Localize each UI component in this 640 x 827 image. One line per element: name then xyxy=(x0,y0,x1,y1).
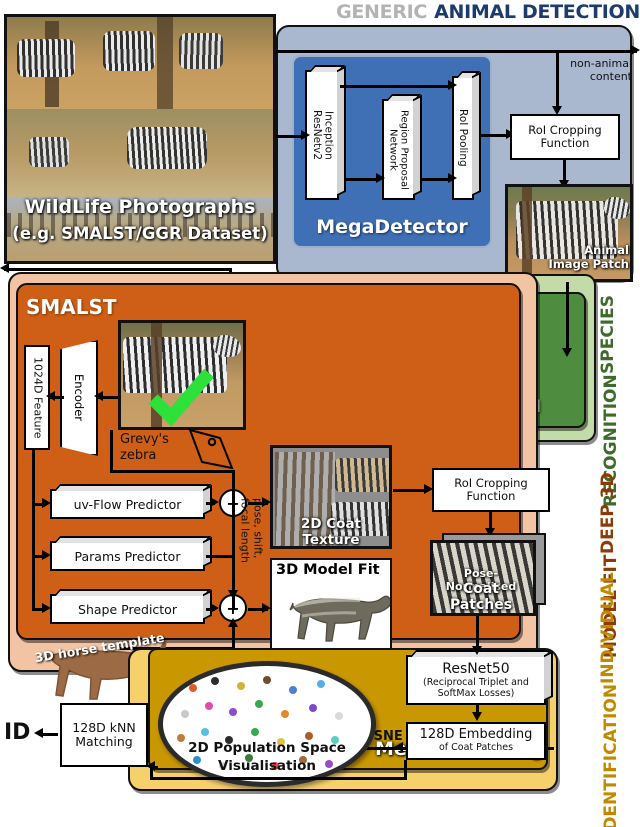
encoder-block: Encoder xyxy=(60,340,98,456)
coat-patches-line2: Coat Patches xyxy=(430,581,532,613)
rail-top-feedback xyxy=(270,50,637,53)
roi-crop-det-line2: Function xyxy=(541,137,590,150)
roi-cropping-function-fit: RoI Cropping Function xyxy=(432,468,550,512)
arrowhead-patches-to-resnet xyxy=(472,646,482,655)
knn-line2: Matching xyxy=(75,735,132,749)
side-3d-line1: DEEP 3D xyxy=(600,472,620,554)
non-animal-line2: content xyxy=(536,70,632,83)
arrowhead-bus-to-shape xyxy=(42,603,51,613)
model-fit-label: 3D Model Fit xyxy=(276,562,380,578)
non-animal-content-label: non-animal content xyxy=(536,57,632,83)
population-line2: Visualisation xyxy=(160,758,374,774)
arrowhead-template-up xyxy=(228,618,238,627)
animal-image-patch-caption: Animal Image Patch xyxy=(505,243,629,272)
figure-headline: GENERIC ANIMAL DETECTION xyxy=(260,0,640,24)
arrowhead-resnet-to-embedding xyxy=(472,712,482,721)
arrowhead-knn-to-id xyxy=(34,728,43,738)
wildlife-photographs-subtitle: (e.g. SMALST/GGR Dataset) xyxy=(4,224,276,243)
uv-flow-predictor-label: uv-Flow Predictor xyxy=(74,497,182,512)
shape-predictor-label: Shape Predictor xyxy=(78,602,177,617)
headline-muted: GENERIC xyxy=(336,1,427,23)
rail-embed-to-knn xyxy=(150,777,406,780)
arrowhead-rpn-to-pooling xyxy=(448,173,457,183)
arrow-texture-to-crop xyxy=(393,489,428,492)
arrowhead-backbone-to-pooling xyxy=(448,80,457,90)
encoder-label: Encoder xyxy=(72,374,86,421)
uv-flow-predictor-block: uv-Flow Predictor xyxy=(50,489,205,519)
side-label-individual-identification: INDIVIDUAL IDENTIFICATION xyxy=(600,590,640,820)
figure-root: GENERIC ANIMAL DETECTION MegaDetector In… xyxy=(0,0,640,827)
side-species-line1: SPECIES xyxy=(600,295,620,374)
region-proposal-network-label: Region Proposal Network xyxy=(388,110,410,190)
resnet50-sub2: SoftMax Losses) xyxy=(438,688,515,699)
params-predictor-label: Params Predictor xyxy=(75,549,181,564)
arrowhead-rail-right xyxy=(631,45,640,55)
arrowhead-plus-to-modelfit xyxy=(262,603,271,613)
embedding-sub: of Coat Patches xyxy=(439,743,513,754)
arrowhead-plus-to-texture xyxy=(262,497,271,507)
inception-resnetv2-label: Inception ResNetv2 xyxy=(310,110,333,160)
price-tag-icon xyxy=(186,428,256,474)
grevys-zebra-photo xyxy=(118,320,246,430)
id-output-label: ID xyxy=(4,720,30,745)
coat-texture-label: 2D Coat Texture xyxy=(272,516,390,548)
feature-1024d-label: 1024D Feature xyxy=(31,357,44,439)
arrowhead-texture-to-crop xyxy=(424,484,433,494)
arrowhead-patch-to-seresnext xyxy=(562,348,572,357)
link-params-vertical xyxy=(232,470,235,610)
inception-resnetv2-block: Inception ResNetv2 xyxy=(305,70,339,200)
arrow-backbone-to-rpn xyxy=(345,178,380,181)
shape-predictor-block: Shape Predictor xyxy=(50,594,205,624)
megadetector-title: MegaDetector xyxy=(292,212,492,242)
rail-knn-join xyxy=(150,766,158,769)
population-line1: 2D Population Space xyxy=(160,740,374,756)
arrow-backbone-to-pooling xyxy=(340,85,452,88)
side-id-line1: INDIVIDUAL xyxy=(600,573,620,685)
wildlife-photographs-title: WildLife Photographs xyxy=(4,196,276,218)
params-predictor-block: Params Predictor xyxy=(50,541,205,571)
side-id-line2: IDENTIFICATION xyxy=(603,684,620,827)
arrowhead-backbone-to-rpn xyxy=(376,173,385,183)
animal-patch-line1: Animal xyxy=(505,243,629,257)
green-check-icon xyxy=(147,367,217,427)
region-proposal-network-block: Region Proposal Network xyxy=(382,99,415,200)
knn-line1: 128D kNN xyxy=(72,721,135,735)
link-zebra-down xyxy=(110,430,113,470)
arrowhead-uvflow-plus xyxy=(210,497,219,507)
grevys-tag-line2: zebra xyxy=(120,448,169,464)
arrowhead-encoder-to-feature xyxy=(46,391,55,401)
embedding-128d-block: 128D Embedding of Coat Patches xyxy=(406,722,546,760)
arrowhead-zebra-to-encoder xyxy=(94,391,103,401)
arrowhead-other-species xyxy=(0,263,9,273)
arrow-rpn-to-pooling xyxy=(420,178,450,181)
link-zebra-branch xyxy=(110,470,234,473)
rail-embed-right-stub xyxy=(548,747,554,750)
arrowhead-photos-to-detector xyxy=(301,130,310,140)
grevys-tag-line1: Grevy's xyxy=(120,432,169,448)
roi-crop-fit-line2: Function xyxy=(467,490,516,503)
arrowhead-bus-to-uvflow xyxy=(42,498,51,508)
link-params-out xyxy=(206,555,233,558)
resnet50-label: ResNet50 xyxy=(442,661,509,677)
rail-down-to-crop xyxy=(556,50,559,112)
headline-accent: ANIMAL DETECTION xyxy=(434,1,640,23)
resnet50-sub1: (Reciprocal Triplet and xyxy=(423,677,529,688)
animal-patch-line2: Image Patch xyxy=(505,257,629,271)
bus-feature-down xyxy=(32,450,35,610)
arrow-patch-down-seresnext xyxy=(566,282,569,354)
arrowhead-params-to-plus xyxy=(228,590,238,599)
roi-pooling-label: RoI Pooling xyxy=(457,109,469,167)
grevys-zebra-tag-text: Grevy's zebra xyxy=(120,432,169,465)
embedding-main: 128D Embedding xyxy=(420,728,533,743)
knn-matching-block: 128D kNN Matching xyxy=(60,703,148,767)
arrowhead-embed-left xyxy=(394,742,403,752)
resnet50-block: ResNet50 (Reciprocal Triplet and SoftMax… xyxy=(406,655,546,705)
arrowhead-shape-plus xyxy=(210,603,219,613)
arrowhead-bus-to-params xyxy=(42,550,51,560)
rail-other-species xyxy=(4,268,232,271)
smalst-title: SMALST xyxy=(26,295,117,319)
non-animal-line1: non-animal xyxy=(536,57,632,70)
roi-cropping-function-detection: RoI Cropping Function xyxy=(510,114,620,160)
pose-shift-focal-length-label: pose, shift, focal length xyxy=(238,498,263,563)
